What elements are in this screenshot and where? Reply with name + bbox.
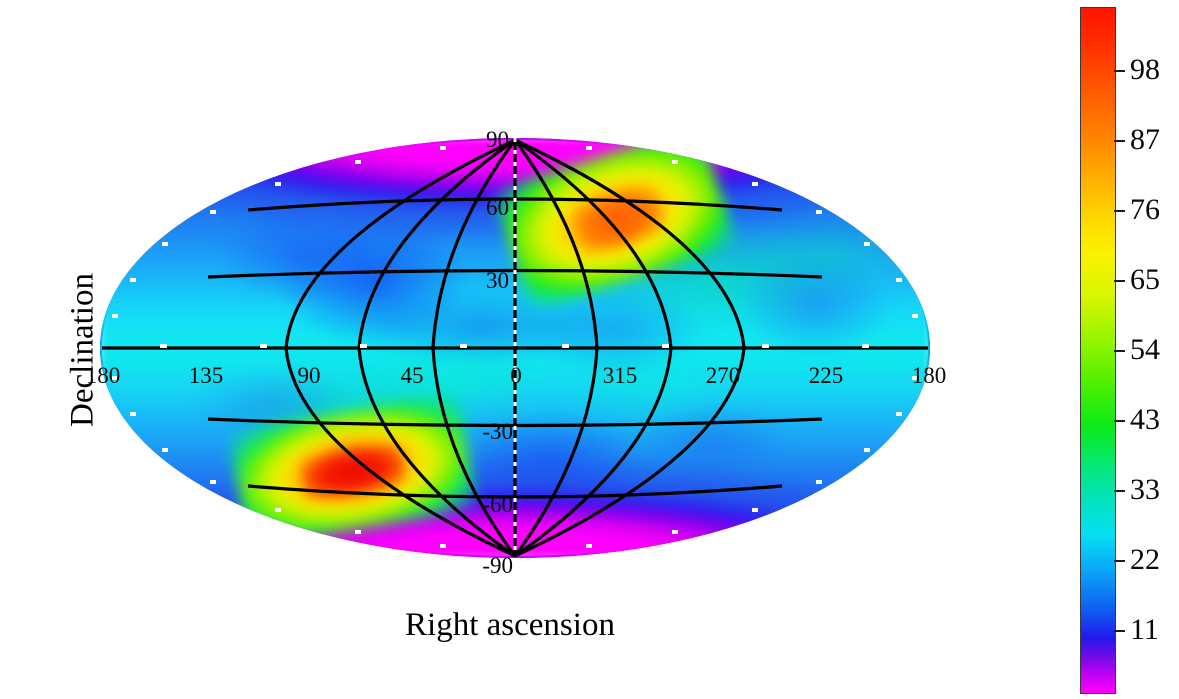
ra-tick-label-225: 225 [809,363,844,389]
ra-tick-label-0: 0 [510,363,522,389]
colorbar-label-76: 76 [1130,193,1160,227]
sky-map-panel: 180 135 90 45 0 315 270 225 180 90 60 30… [0,0,1060,699]
colorbar-tick-43 [1114,420,1125,422]
colorbar-label-54: 54 [1130,333,1160,367]
colorbar-label-33: 33 [1130,473,1160,507]
colorbar-tick-87 [1114,140,1125,142]
colorbar-gradient [1080,7,1116,694]
colorbar-tick-98 [1114,70,1125,72]
ra-tick-label-45: 45 [401,363,424,389]
colorbar-tick-76 [1114,210,1125,212]
colorbar-tick-33 [1114,490,1125,492]
ra-tick-label-270: 270 [706,363,741,389]
colorbar-label-43: 43 [1130,403,1160,437]
ra-tick-label-135: 135 [189,363,224,389]
ra-tick-label-180-right: 180 [912,363,947,389]
colorbar-label-11: 11 [1130,613,1159,647]
ra-tick-label-315: 315 [603,363,638,389]
colorbar-tick-54 [1114,350,1125,352]
colorbar-label-87: 87 [1130,123,1160,157]
dec-tick-label-60: 60 [486,195,512,221]
colorbar-label-65: 65 [1130,263,1160,297]
colorbar-label-22: 22 [1130,543,1160,577]
colorbar-panel: 98 87 76 65 54 43 33 22 11 [1072,0,1179,699]
y-axis-title: Declination [64,273,101,427]
x-axis-title: Right ascension [0,607,1020,644]
colorbar-tick-65 [1114,280,1125,282]
dec-tick-label-minus30: -30 [482,419,516,445]
dec-tick-label-minus60: -60 [482,492,516,518]
colorbar-tick-22 [1114,560,1125,562]
colorbar-tick-11 [1114,630,1125,632]
colorbar-label-98: 98 [1130,53,1160,87]
dec-tick-label-minus90: -90 [482,553,516,579]
ra-tick-label-90: 90 [298,363,321,389]
dec-tick-label-90: 90 [486,127,512,153]
dec-tick-label-30: 30 [486,268,512,294]
